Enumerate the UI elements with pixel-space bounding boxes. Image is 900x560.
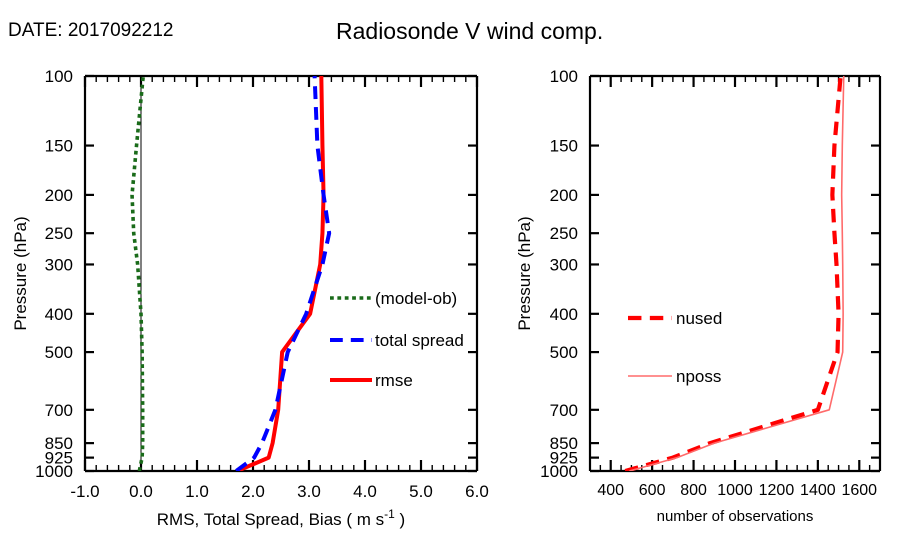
left-panel-xtick-label: 5.0 xyxy=(409,482,433,501)
left-panel-ytick-label: 250 xyxy=(45,224,73,243)
right-panel-ytick-label: 400 xyxy=(550,305,578,324)
right-nused-line xyxy=(625,76,840,471)
right-panel-xtick-label: 1600 xyxy=(841,482,877,499)
left-panel-series xyxy=(132,76,329,471)
left-panel-xtick-label: 4.0 xyxy=(353,482,377,501)
left--model-ob--line xyxy=(132,76,143,471)
right-panel-xtick-label: 800 xyxy=(680,482,707,499)
right-panel-ytick-label: 200 xyxy=(550,186,578,205)
right-panel-ytick-label: 150 xyxy=(550,137,578,156)
right-panel-ytick-label: 100 xyxy=(550,67,578,86)
chart-page: DATE: 2017092212 Radiosonde V wind comp.… xyxy=(0,0,900,560)
right-panel-ytick-label: 1000 xyxy=(540,462,578,481)
right-panel-ytick-label: 500 xyxy=(550,343,578,362)
left-panel-ytick-label: 300 xyxy=(45,255,73,274)
profile-plots: 1001502002503004005007008509251000100150… xyxy=(0,0,900,560)
left-panel-y-axis-title: Pressure (hPa) xyxy=(11,216,30,330)
left-panel-xtick-label: 6.0 xyxy=(465,482,489,501)
right-panel-xtick-label: 1200 xyxy=(759,482,795,499)
right-panel-xtick-label: 400 xyxy=(597,482,624,499)
right-panel-ytick-label: 300 xyxy=(550,255,578,274)
left-total-spread-line xyxy=(236,76,329,471)
right-panel-xtick-label: 1000 xyxy=(717,482,753,499)
left-panel-xtick-label: 1.0 xyxy=(185,482,209,501)
left-panel-xtick-label: 0.0 xyxy=(129,482,153,501)
right-panel-ytick-label: 250 xyxy=(550,224,578,243)
right-panel-y-axis-title: Pressure (hPa) xyxy=(515,216,534,330)
left-panel-xtick-label: 3.0 xyxy=(297,482,321,501)
right-panel-series xyxy=(625,76,844,471)
left-panel-x-axis-title: RMS, Total Spread, Bias ( m s-1 ) xyxy=(157,507,405,529)
left-panel-xtick-label: 2.0 xyxy=(241,482,265,501)
left-panel-ytick-label: 150 xyxy=(45,137,73,156)
left-legend-label-2: rmse xyxy=(375,371,413,390)
left-panel-ytick-label: 400 xyxy=(45,305,73,324)
left-panel-ytick-label: 100 xyxy=(45,67,73,86)
right-panel-ytick-label: 700 xyxy=(550,401,578,420)
right-panel-xtick-label: 1400 xyxy=(800,482,836,499)
left-rmse-line xyxy=(237,76,323,471)
right-legend-label-1: nposs xyxy=(676,367,721,386)
left-panel-ytick-label: 200 xyxy=(45,186,73,205)
left-panel-xtick-label: -1.0 xyxy=(70,482,99,501)
right-panel-xtick-label: 600 xyxy=(639,482,666,499)
left-legend-label-0: (model-ob) xyxy=(375,289,457,308)
right-nposs-line xyxy=(629,76,843,471)
right-legend-label-0: nused xyxy=(676,309,722,328)
left-panel-ytick-label: 500 xyxy=(45,343,73,362)
left-legend-label-1: total spread xyxy=(375,331,464,350)
left-panel-ytick-label: 700 xyxy=(45,401,73,420)
left-panel-ytick-label: 1000 xyxy=(35,462,73,481)
right-panel-x-axis-title: number of observations xyxy=(657,508,814,525)
